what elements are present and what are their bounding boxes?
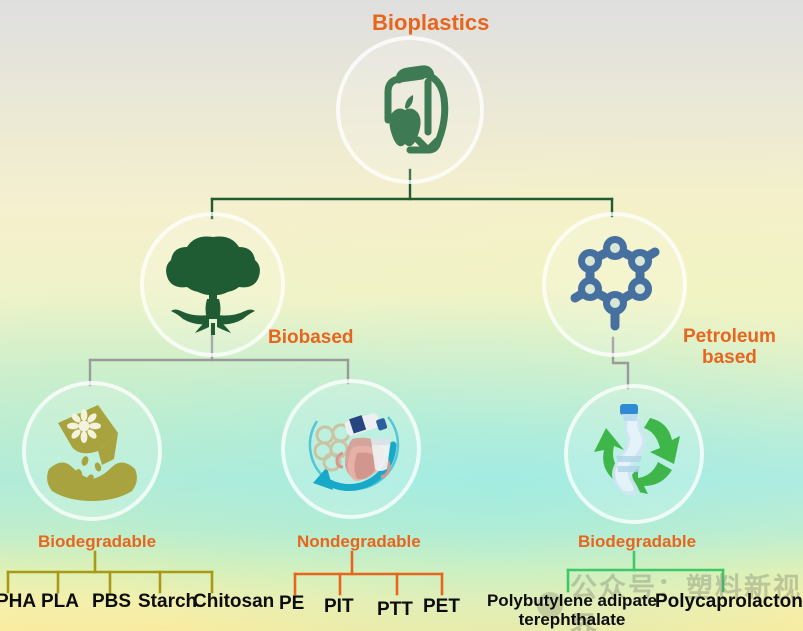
node-biodegradable-petroleum[interactable]	[568, 388, 700, 520]
label-petroleum-based: Petroleum based	[683, 326, 776, 369]
label-biobased: Biobased	[268, 327, 354, 348]
label-biodegradable-biobased: Biodegradable	[38, 532, 156, 551]
plastic-bottle-recycle-icon	[576, 396, 692, 512]
leaf-pbat: Polybutylene adipate terephthalate	[484, 592, 660, 629]
node-bioplastics[interactable]	[340, 40, 480, 180]
node-petroleum-based[interactable]	[546, 216, 683, 353]
leaf-pha: PHA	[0, 592, 36, 613]
page-title: Bioplastics	[372, 10, 489, 36]
node-biobased[interactable]	[144, 216, 281, 353]
diagram-canvas: Bioplastics	[0, 0, 803, 631]
node-nondegradable[interactable]	[285, 383, 417, 515]
leaf-ptt: PTT	[377, 600, 413, 621]
seed-bag-soil-icon	[36, 395, 148, 507]
node-biodegradable-biobased[interactable]	[26, 385, 158, 517]
label-nondegradable: Nondegradable	[297, 532, 421, 551]
label-petroleum-line2: based	[683, 347, 776, 368]
leaf-pbat-line2: terephthalate	[519, 610, 626, 629]
leaf-pit: PIT	[324, 597, 354, 618]
benzene-molecule-icon	[556, 226, 674, 344]
plastic-waste-recycle-icon	[293, 391, 409, 507]
leaf-chitosan: Chitosan	[193, 592, 274, 613]
shopping-bag-apple-icon	[358, 58, 462, 162]
leaf-pbat-line1: Polybutylene adipate	[487, 591, 657, 610]
leaf-pbs: PBS	[92, 592, 131, 613]
label-biodegradable-petroleum: Biodegradable	[578, 532, 696, 551]
leaf-pla: PLA	[41, 592, 79, 613]
label-petroleum-line1: Petroleum	[683, 326, 776, 347]
leaf-pet: PET	[423, 597, 460, 618]
tree-with-roots-icon	[157, 229, 269, 341]
leaf-pcl: Polycaprolactone	[655, 592, 803, 613]
leaf-pe: PE	[279, 594, 304, 615]
leaf-starch: Starch	[138, 592, 197, 613]
